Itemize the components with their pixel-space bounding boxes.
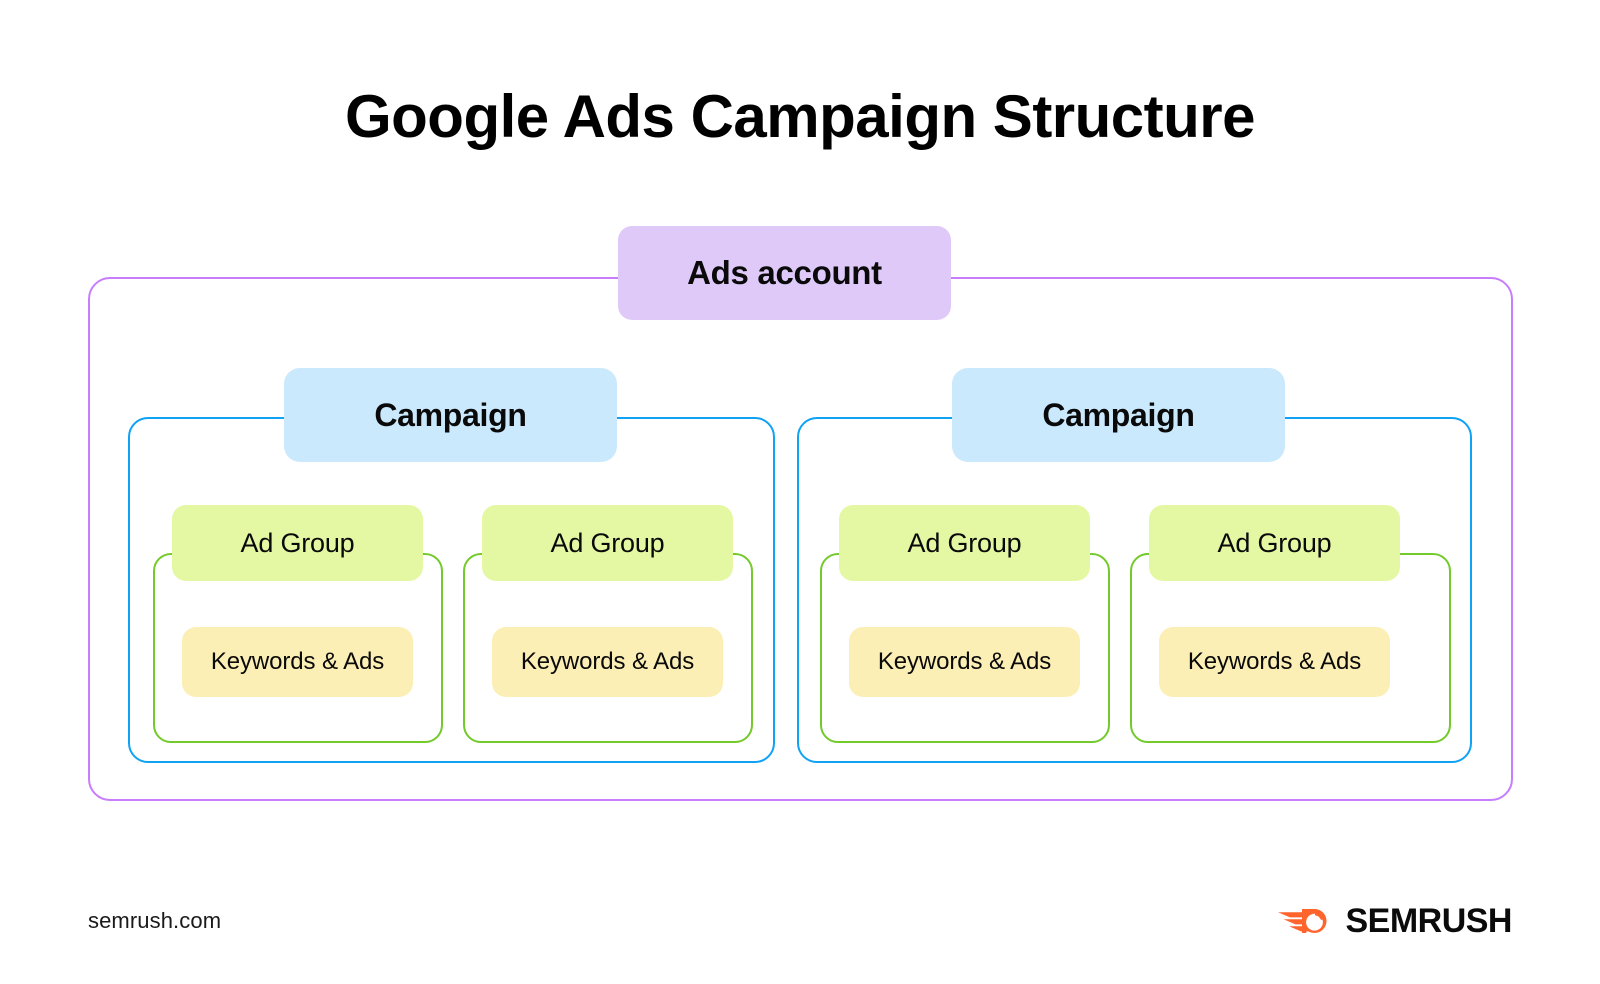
keywords-ads-node-2: Keywords & Ads xyxy=(492,627,723,697)
keywords-ads-node-4: Keywords & Ads xyxy=(1159,627,1390,697)
source-url-label: semrush.com xyxy=(88,908,221,934)
campaign-node-2: Campaign xyxy=(952,368,1285,462)
semrush-logo: SEMRUSH xyxy=(1276,898,1512,944)
keywords-ads-node-1: Keywords & Ads xyxy=(182,627,413,697)
campaign-node-1: Campaign xyxy=(284,368,617,462)
campaign-structure-diagram: Ads account Campaign Campaign Ad Group A… xyxy=(0,0,1600,984)
ad-group-node-2: Ad Group xyxy=(482,505,733,581)
ad-group-node-4: Ad Group xyxy=(1149,505,1400,581)
ad-group-node-3: Ad Group xyxy=(839,505,1090,581)
ads-account-node: Ads account xyxy=(618,226,951,320)
semrush-wordmark: SEMRUSH xyxy=(1345,904,1512,938)
semrush-comet-icon xyxy=(1276,899,1332,944)
keywords-ads-node-3: Keywords & Ads xyxy=(849,627,1080,697)
ad-group-node-1: Ad Group xyxy=(172,505,423,581)
